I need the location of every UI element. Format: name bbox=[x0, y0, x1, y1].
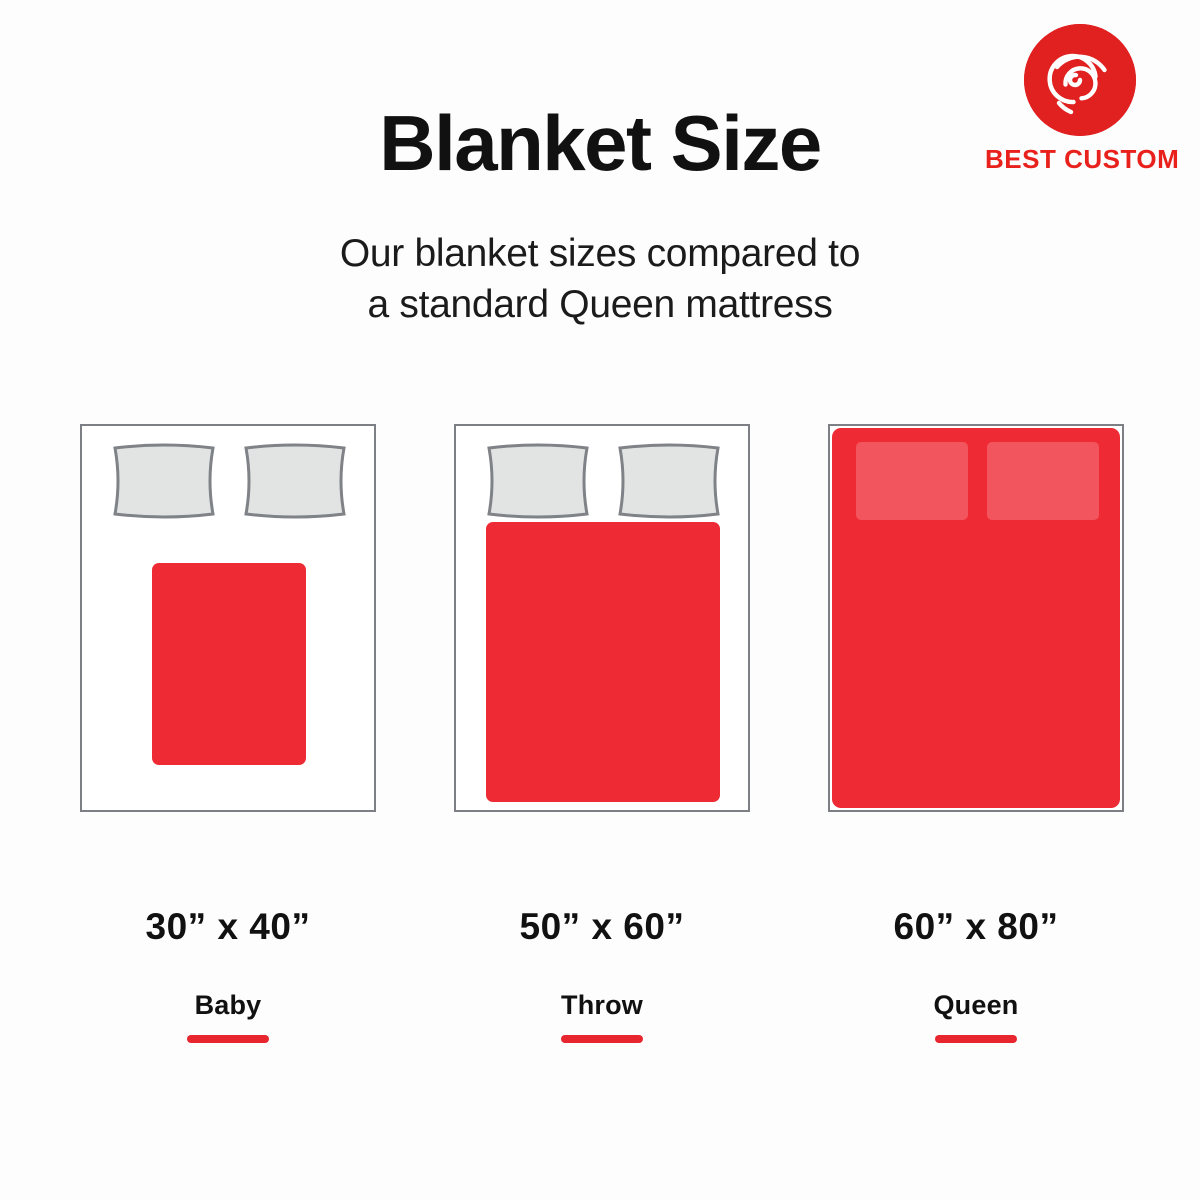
size-name-queen: Queen bbox=[828, 990, 1124, 1021]
blanket-throw bbox=[486, 522, 720, 802]
pillow-left-under-blanket bbox=[856, 442, 968, 520]
dimension-label-throw: 50” x 60” bbox=[454, 906, 750, 948]
mattress-outline-queen bbox=[828, 424, 1124, 812]
comparison-queen bbox=[828, 424, 1124, 812]
accent-underline bbox=[561, 1035, 643, 1043]
size-name-baby: Baby bbox=[80, 990, 376, 1021]
caption-queen: 60” x 80” Queen bbox=[828, 906, 1124, 1043]
subtitle-line-2: a standard Queen mattress bbox=[0, 279, 1200, 330]
caption-throw: 50” x 60” Throw bbox=[454, 906, 750, 1043]
caption-baby: 30” x 40” Baby bbox=[80, 906, 376, 1043]
pillow-right bbox=[613, 442, 725, 520]
infographic-canvas: BEST CUSTOM Blanket Size Our blanket siz… bbox=[0, 0, 1200, 1200]
comparison-baby bbox=[80, 424, 376, 812]
accent-underline bbox=[935, 1035, 1017, 1043]
mattress-outline-throw bbox=[454, 424, 750, 812]
blanket-queen bbox=[832, 428, 1120, 808]
pillow-left bbox=[482, 442, 594, 520]
page-title: Blanket Size bbox=[0, 104, 1200, 182]
page-subtitle: Our blanket sizes compared to a standard… bbox=[0, 228, 1200, 331]
size-name-throw: Throw bbox=[454, 990, 750, 1021]
dimension-label-baby: 30” x 40” bbox=[80, 906, 376, 948]
pillow-right-under-blanket bbox=[987, 442, 1099, 520]
mattress-outline-baby bbox=[80, 424, 376, 812]
comparison-throw bbox=[454, 424, 750, 812]
dimension-label-queen: 60” x 80” bbox=[828, 906, 1124, 948]
blanket-baby bbox=[152, 563, 306, 765]
pillow-right bbox=[239, 442, 351, 520]
subtitle-line-1: Our blanket sizes compared to bbox=[0, 228, 1200, 279]
accent-underline bbox=[187, 1035, 269, 1043]
pillow-left bbox=[108, 442, 220, 520]
